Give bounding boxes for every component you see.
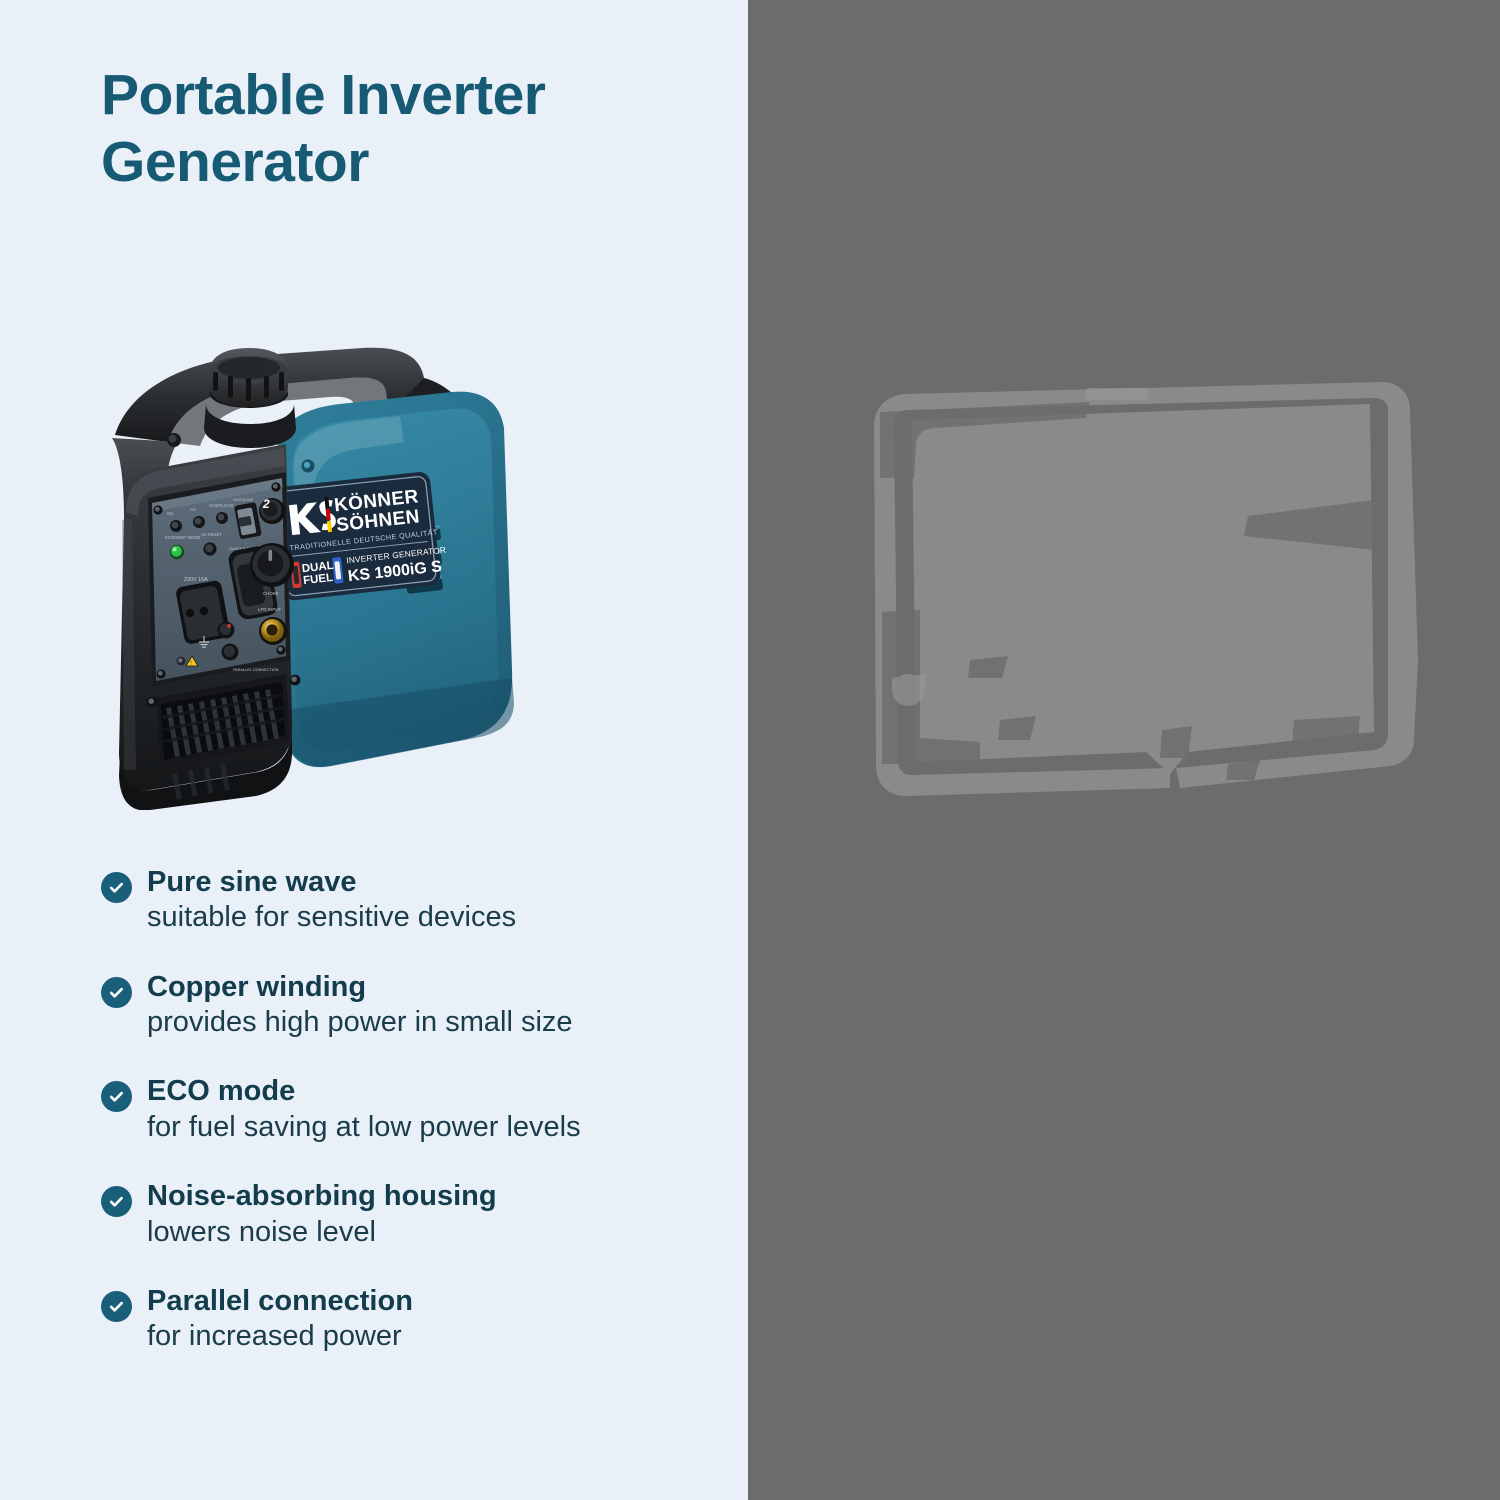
svg-text:2: 2 [262,497,270,511]
parallel-connection-label: PARALLEL CONNECTION [233,668,279,672]
feature-subtitle: lowers noise level [147,1215,721,1249]
feature-title: ECO mode [147,1075,721,1107]
feature-subtitle: for increased power [147,1319,721,1353]
left-feature-list: Pure sine wave suitable for sensitive de… [101,866,721,1353]
lpg-input-label: LPG INPUT [258,607,281,612]
list-item: Noise-absorbing housing lowers noise lev… [101,1180,721,1249]
feature-subtitle: provides high power in small size [147,1005,721,1039]
feature-title: Parallel connection [147,1285,721,1317]
control-panel: OIL AC OVERLOAD ECONOMY MODE AC RESET [148,472,294,686]
feature-title: Pure sine wave [147,866,721,898]
brand-nameplate: KÖNNER SÖHNEN TRADITIONELLE DEUTSCHE QUA… [272,470,450,601]
economy-mode-label: ECONOMY MODE [165,535,200,540]
feature-subtitle: for fuel saving at low power levels [147,1110,721,1144]
feature-subtitle: suitable for sensitive devices [147,900,721,934]
left-panel-inverter: Portable Inverter Generator [0,0,748,1500]
gasoline-label: GASOLINE [233,497,254,502]
feature-title: Copper winding [147,971,721,1003]
check-icon [101,872,132,903]
list-item: Pure sine wave suitable for sensitive de… [101,866,721,935]
svg-text:OIL: OIL [167,511,175,516]
choke-label: CHOKE [263,591,279,596]
list-item: ECO mode for fuel saving at low power le… [101,1075,721,1144]
svg-text:OVERLOAD: OVERLOAD [209,503,233,508]
feature-title: Noise-absorbing housing [147,1180,721,1212]
list-item: Parallel connection for increased power [101,1285,721,1354]
comparison-infographic: Portable Inverter Generator [0,0,1500,1500]
check-icon [101,977,132,1008]
svg-text:!: ! [190,661,191,667]
svg-text:AC: AC [190,507,196,512]
traditional-generator-ghost-image [840,360,1460,800]
ac-reset-label: AC RESET [201,532,222,537]
inverter-generator-image: KÖNNER SÖHNEN TRADITIONELLE DEUTSCHE QUA… [0,330,748,810]
fuel-cap [204,348,296,448]
check-icon [101,1291,132,1322]
check-icon [101,1081,132,1112]
left-panel-title: Portable Inverter Generator [101,62,701,197]
check-icon [101,1186,132,1217]
list-item: Copper winding provides high power in sm… [101,971,721,1040]
outlet-rating-label: 230V 16A [184,577,208,583]
